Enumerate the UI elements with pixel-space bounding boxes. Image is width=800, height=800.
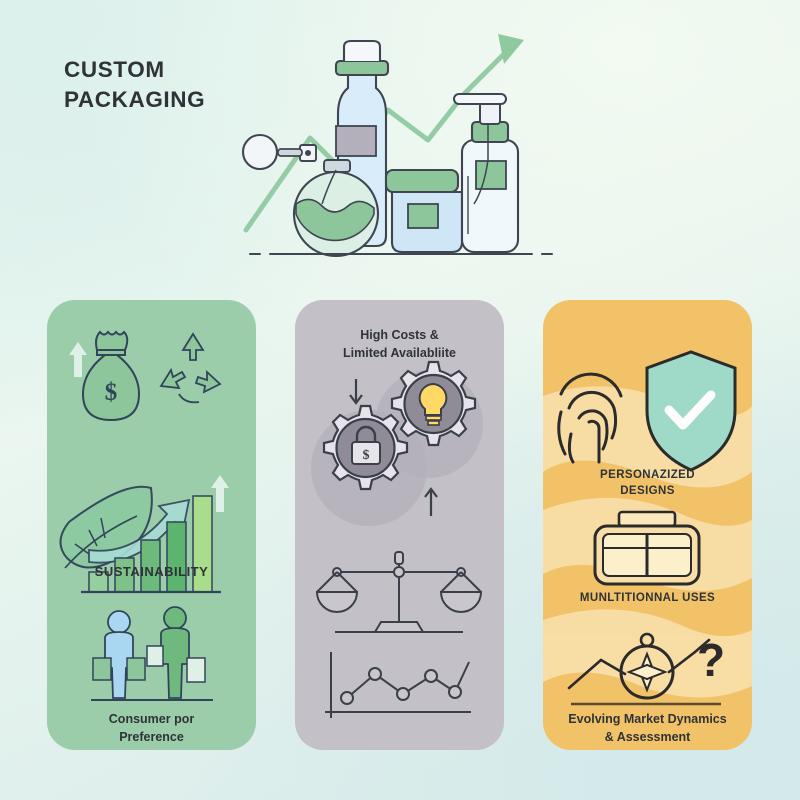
hero-illustration (232, 18, 562, 274)
sustainability-icons: $ (47, 300, 256, 750)
up-arrow-icon (425, 489, 437, 516)
recycle-icon (161, 334, 220, 402)
svg-text:$: $ (105, 379, 118, 406)
money-bag-icon: $ (83, 332, 139, 420)
gear-lightbulb-icon (392, 362, 475, 445)
page-title: CUSTOM PACKAGING (64, 55, 205, 114)
question-mark-icon: ? (697, 634, 725, 686)
cosmetic-jar-icon (386, 170, 462, 252)
card-sustainability[interactable]: $ (47, 300, 256, 750)
shoppers-icon (91, 607, 213, 700)
balance-scale-icon (317, 552, 481, 632)
high-costs-icons: $ (295, 300, 504, 750)
infographic-poster: CUSTOM PACKAGING (0, 0, 800, 800)
up-arrow-icon (69, 342, 87, 377)
gear-lock-dollar-icon: $ (324, 406, 407, 489)
up-arrow-icon (211, 475, 229, 512)
card-personalization[interactable]: ? (543, 300, 752, 750)
line-chart-icon (325, 652, 471, 718)
card-high-costs[interactable]: $ (295, 300, 504, 750)
svg-text:$: $ (363, 448, 370, 463)
down-arrow-icon (350, 379, 362, 403)
pump-dispenser-icon (454, 94, 518, 252)
personalization-icons: ? (543, 300, 752, 750)
